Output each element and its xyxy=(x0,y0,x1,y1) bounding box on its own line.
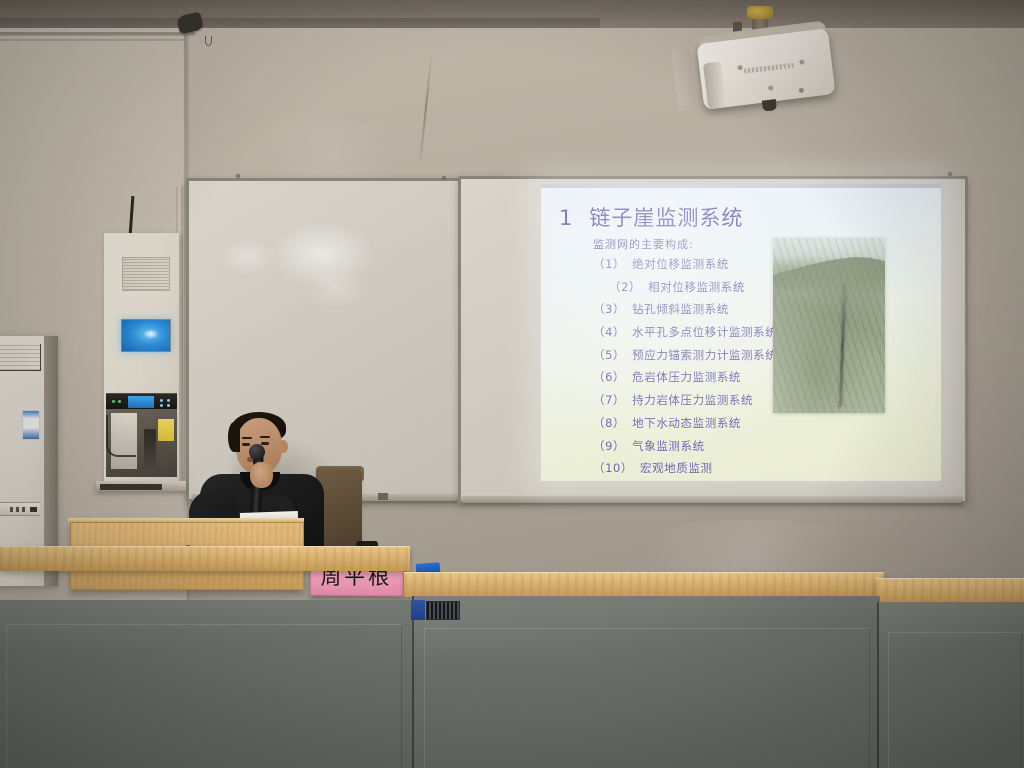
slide-cliff-photo xyxy=(773,238,885,413)
cabinet-button[interactable] xyxy=(22,507,25,512)
list-item-index: （10） xyxy=(593,461,633,475)
list-item-index: （8） xyxy=(593,416,625,430)
cabinet-lcd-display xyxy=(121,319,171,352)
desk-cable-grommet xyxy=(426,601,460,620)
list-item-label: 预应力锚索测力计监测系统 xyxy=(632,348,777,362)
cabinet-button[interactable] xyxy=(10,507,13,512)
cabinet-control-panel[interactable] xyxy=(106,393,177,410)
list-item: （8）地下水动态监测系统 xyxy=(593,415,843,431)
desk-top-center xyxy=(404,572,884,597)
slide-title-number: 1 xyxy=(559,206,573,230)
cliff-haze-overlay xyxy=(773,238,885,413)
list-item: （10）宏观地质监测 xyxy=(593,460,843,476)
desk-top-left xyxy=(0,546,410,571)
projector-indicator-dot xyxy=(799,59,805,65)
desk-front-left xyxy=(0,600,414,768)
whiteboard-tray-clip xyxy=(378,493,388,500)
presenter-eye xyxy=(242,443,250,446)
projector-vent xyxy=(744,63,794,74)
panel-lcd-readout xyxy=(128,396,154,408)
presenter-right-hand xyxy=(250,462,273,488)
ceiling-conduit-secondary xyxy=(0,39,188,41)
desk-panel xyxy=(424,628,870,768)
whiteboard-screw xyxy=(236,174,240,178)
cabinet-warning-sticker xyxy=(22,410,40,440)
microphone-capsule xyxy=(249,444,265,460)
projector-lens-housing xyxy=(703,61,726,109)
cabinet-button[interactable] xyxy=(16,507,19,512)
ceiling-projector xyxy=(695,20,836,117)
desk-front-right xyxy=(878,602,1024,768)
whiteboard-glare xyxy=(217,237,277,277)
list-item-index: （4） xyxy=(593,325,625,339)
list-item: （9）气象监测系统 xyxy=(593,438,843,454)
list-item-label: 水平孔多点位移计监测系统 xyxy=(632,325,777,339)
slide-subtitle: 监测网的主要构成: xyxy=(593,236,694,252)
whiteboard-glare xyxy=(307,269,367,309)
ceiling-conduit xyxy=(0,32,195,35)
list-item-label: 地下水动态监测系统 xyxy=(632,416,741,430)
desk-panel xyxy=(6,624,402,768)
slide-title-text: 链子崖监测系统 xyxy=(589,206,743,230)
cabinet-button-wide[interactable] xyxy=(30,507,37,512)
cabinet-shelf-mat xyxy=(100,484,162,490)
slide-title: 1链子崖监测系统 xyxy=(559,202,743,232)
projector-logo-dot xyxy=(768,85,774,91)
list-item-label: 钻孔倾斜监测系统 xyxy=(632,302,729,316)
list-item-index: （3） xyxy=(593,302,625,316)
list-item-label: 气象监测系统 xyxy=(632,439,705,453)
slide-top-band xyxy=(541,184,941,188)
whiteboard-marker-tray xyxy=(462,496,962,503)
wall-control-cabinet xyxy=(104,233,179,483)
status-led-blue xyxy=(167,404,170,407)
whiteboard-screw xyxy=(948,172,952,176)
list-item-index: （6） xyxy=(593,370,625,384)
list-item-index: （5） xyxy=(593,348,625,362)
desk-seam xyxy=(877,602,879,768)
status-led-blue xyxy=(167,399,170,402)
presenter-eyebrow xyxy=(260,436,270,438)
projector-indicator-dot xyxy=(737,65,743,71)
cabinet-button-row[interactable] xyxy=(0,502,40,516)
projector-mount-head xyxy=(747,6,773,19)
desk-panel xyxy=(888,632,1022,768)
list-item-label: 持力岩体压力监测系统 xyxy=(632,393,753,407)
desk-top-right xyxy=(876,578,1024,603)
cabinet-louver-vent xyxy=(0,344,41,371)
lecture-room-photo: 1链子崖监测系统 监测网的主要构成: （1）绝对位移监测系统 （2）相对位移监测… xyxy=(0,0,1024,768)
status-led-blue xyxy=(160,399,163,402)
desk-seam xyxy=(412,596,414,768)
list-item-index: （9） xyxy=(593,439,625,453)
whiteboard-screw xyxy=(442,176,446,180)
list-item-index: （2） xyxy=(609,280,641,294)
list-item-label: 相对位移监测系统 xyxy=(648,280,745,294)
desk-front-center xyxy=(412,596,880,768)
presenter-eye xyxy=(261,442,269,445)
desk-blue-sticker xyxy=(411,600,425,620)
cabinet-yellow-tag xyxy=(158,419,174,441)
cabinet-inner-cylinder xyxy=(144,429,156,469)
projector-screw xyxy=(799,88,805,94)
lcd-glare xyxy=(143,329,159,339)
status-led-green xyxy=(112,400,115,403)
list-item-index: （7） xyxy=(593,393,625,407)
presenter-ear xyxy=(279,440,288,453)
status-led-blue xyxy=(160,404,163,407)
list-item-label: 危岩体压力监测系统 xyxy=(632,370,741,384)
projected-slide: 1链子崖监测系统 监测网的主要构成: （1）绝对位移监测系统 （2）相对位移监测… xyxy=(541,184,941,481)
status-led-green xyxy=(118,400,121,403)
presenter-eyebrow xyxy=(242,437,252,439)
ceiling-hook xyxy=(205,36,212,46)
cabinet-vent-grille xyxy=(122,257,170,291)
list-item-index: （1） xyxy=(593,257,625,271)
cabinet-cable xyxy=(106,415,136,457)
presenter-hair-side xyxy=(228,422,240,452)
list-item-label: 宏观地质监测 xyxy=(640,461,713,475)
list-item-label: 绝对位移监测系统 xyxy=(632,257,729,271)
